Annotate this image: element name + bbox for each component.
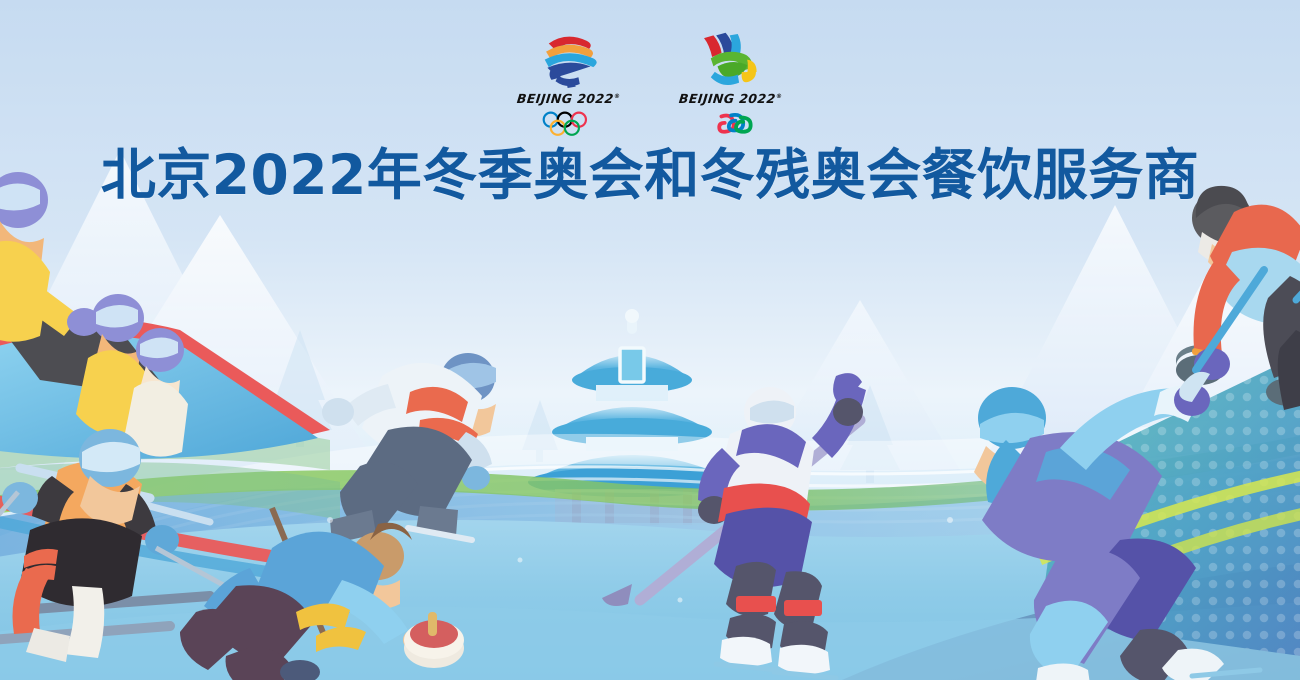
curling-stone [404, 612, 464, 668]
short-track-skater [318, 353, 496, 552]
olympic-logo: BEIJING 2022® [514, 30, 624, 137]
winter-dream-emblem [527, 30, 611, 88]
paralympic-logo: BEIJING 2022® [676, 30, 786, 137]
ice-hockey-player [602, 373, 866, 678]
curler-delivering [180, 508, 464, 680]
olympic-wordmark: BEIJING 2022® [517, 91, 622, 106]
flying-high-emblem [689, 30, 773, 88]
paralympic-agitos [703, 111, 759, 137]
speed-skater [974, 384, 1260, 680]
page-title: 北京2022年冬季奥会和冬残奥会餐饮服务商 [0, 144, 1300, 206]
logo-row: BEIJING 2022® [0, 30, 1300, 137]
paralympic-wordmark: BEIJING 2022® [679, 91, 784, 106]
beijing-2022-banner: BEIJING 2022® [0, 0, 1300, 680]
olympic-rings [541, 111, 597, 137]
